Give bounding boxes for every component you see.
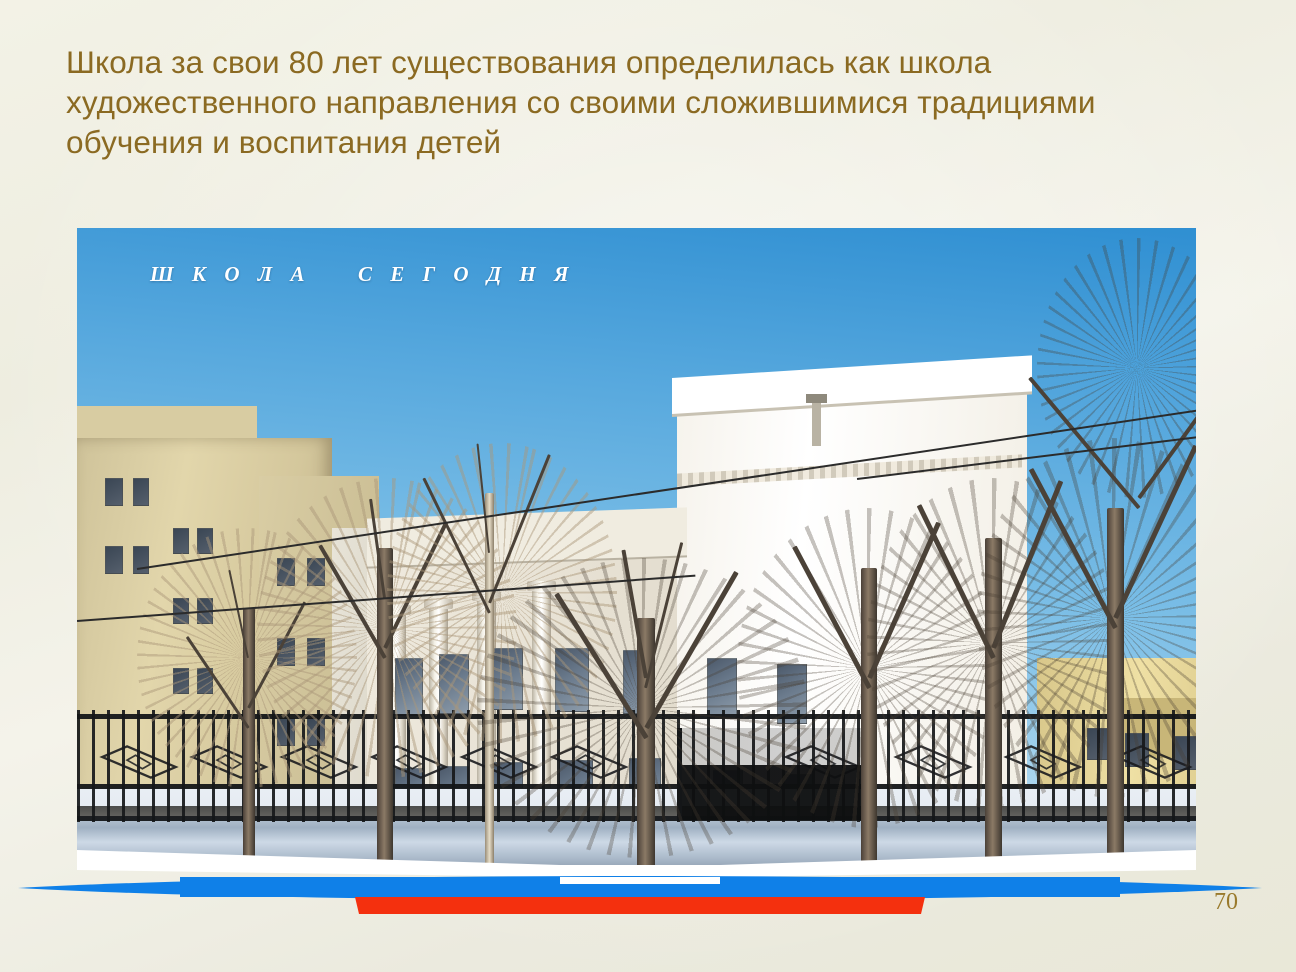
- slide: Школа за свои 80 лет существования опред…: [0, 0, 1296, 972]
- page-title: Школа за свои 80 лет существования опред…: [66, 42, 1156, 162]
- window: [105, 478, 123, 506]
- chimney: [812, 400, 821, 446]
- photo-caption: Ш К О Л А С Е Г О Д Н Я: [150, 262, 575, 287]
- window: [133, 478, 149, 506]
- tree: [1037, 238, 1196, 538]
- chimney-cap: [806, 394, 827, 403]
- page-number: 70: [1214, 889, 1238, 916]
- ribbon-red-band: [355, 897, 925, 914]
- ribbon-blue-band: [18, 876, 1262, 900]
- school-photo: [77, 228, 1196, 868]
- ribbon-white-notch: [560, 877, 720, 884]
- window: [105, 546, 123, 574]
- ribbon-blue-middle: [180, 877, 1120, 897]
